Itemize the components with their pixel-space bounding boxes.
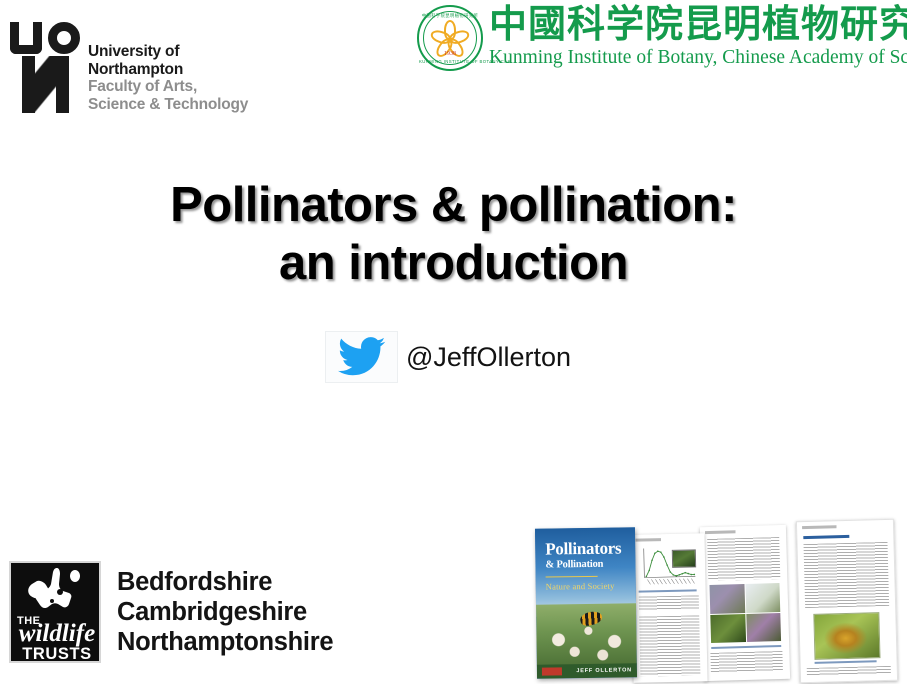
page-caption-text — [639, 595, 699, 610]
page-running-head — [636, 537, 700, 541]
wt-region-line-2: Cambridgeshire — [117, 597, 367, 627]
kib-english-name: Kunming Institute of Botany, Chinese Aca… — [489, 47, 907, 69]
kib-seal-arc-bottom-text: KUNMING INSTITUTE OF BOTANY CAS — [419, 59, 481, 64]
page-body-text — [639, 615, 700, 676]
page-title: Pollinators & pollination: an introducti… — [0, 176, 907, 292]
grid-photo-purple-flower-insect — [746, 613, 781, 642]
twitter-icon[interactable] — [325, 331, 398, 383]
uon-letter-u — [10, 22, 42, 54]
chart-inset-bee-photo — [672, 549, 696, 567]
title-line-2: an introduction — [0, 234, 907, 292]
page-body-text — [803, 542, 889, 608]
uon-letter-o — [48, 22, 80, 54]
wt-region-line-1: Bedfordshire — [117, 567, 367, 597]
twitter-handle-text[interactable]: @JeffOllerton — [406, 342, 571, 373]
page-section-heading — [803, 535, 849, 539]
cover-footer: JEFF OLLERTON — [537, 663, 637, 678]
page-running-head — [705, 529, 781, 534]
cover-title-main: Pollinators — [545, 539, 629, 558]
cover-tagline: Nature and Society — [546, 580, 630, 591]
kib-seal-arc-top-text: 中国科学院昆明植物研究所 — [419, 13, 481, 19]
page-footer-text — [807, 666, 891, 676]
cover-divider-rule — [546, 576, 598, 578]
kib-seal-year: 1938 — [419, 51, 481, 57]
grid-photo-lavender-flowers — [709, 584, 744, 613]
uon-letter-n-right-stem — [56, 56, 69, 113]
ivy-bee-photo — [813, 612, 880, 660]
book-cover: Pollinators & Pollination Nature and Soc… — [535, 527, 637, 678]
page-figure-caption — [711, 645, 781, 649]
title-line-1: Pollinators & pollination: — [0, 176, 907, 234]
page-body-text — [707, 537, 780, 581]
book-images-group: Pollinators & Pollination Nature and Soc… — [520, 518, 907, 684]
uon-line-3: Faculty of Arts, — [88, 78, 268, 96]
uon-line-4: Science & Technology — [88, 96, 268, 114]
book-page-line-chart — [630, 533, 707, 683]
uon-line-1: University of — [88, 43, 268, 61]
grid-photo-bumblebee-foliage — [710, 614, 745, 643]
publisher-logo — [542, 667, 562, 675]
page-figure-caption — [815, 660, 877, 664]
wildlife-trusts-trusts-text: TRUSTS — [15, 645, 99, 663]
cover-title-sub: & Pollination — [545, 557, 629, 571]
page-figure-caption — [639, 589, 697, 592]
twitter-handle-row[interactable]: @JeffOllerton — [325, 331, 571, 383]
wt-region-line-3: Northamptonshire — [117, 627, 367, 657]
wildlife-trusts-region-names: Bedfordshire Cambridgeshire Northamptons… — [117, 567, 367, 657]
grid-photo-white-flower-butterfly — [745, 583, 780, 612]
page-running-head — [802, 524, 888, 529]
page-caption-text — [710, 651, 783, 673]
wildlife-trusts-wildlife-text: wildlife — [15, 621, 99, 647]
uon-line-2: Northampton — [88, 61, 268, 79]
cover-author-name: JEFF OLLERTON — [576, 667, 632, 674]
kib-seal-icon: 中国科学院昆明植物研究所 1938 KUNMING INSTITUTE OF B… — [417, 5, 483, 71]
kunming-institute-of-botany-logo: 中国科学院昆明植物研究所 1938 KUNMING INSTITUTE OF B… — [417, 2, 897, 74]
book-page-photo-grid — [700, 525, 790, 681]
uon-letter-n-left-stem — [22, 56, 35, 113]
book-page-ivy-bee — [796, 519, 898, 684]
four-panel-photo-grid — [709, 583, 781, 643]
uon-monogram-icon — [10, 16, 82, 113]
presentation-slide: University of Northampton Faculty of Art… — [0, 0, 907, 684]
wildlife-trusts-badge: THE wildlife TRUSTS — [9, 561, 101, 663]
wildlife-trusts-logo: THE wildlife TRUSTS Bedfordshire Cambrid… — [9, 561, 369, 665]
cover-title-block: Pollinators & Pollination Nature and Soc… — [545, 539, 630, 591]
university-of-northampton-logo: University of Northampton Faculty of Art… — [10, 14, 260, 114]
kib-chinese-name: 中國科学院昆明植物研究所 — [489, 2, 907, 46]
uon-wordmark: University of Northampton Faculty of Art… — [88, 43, 268, 113]
badger-icon — [19, 567, 93, 613]
